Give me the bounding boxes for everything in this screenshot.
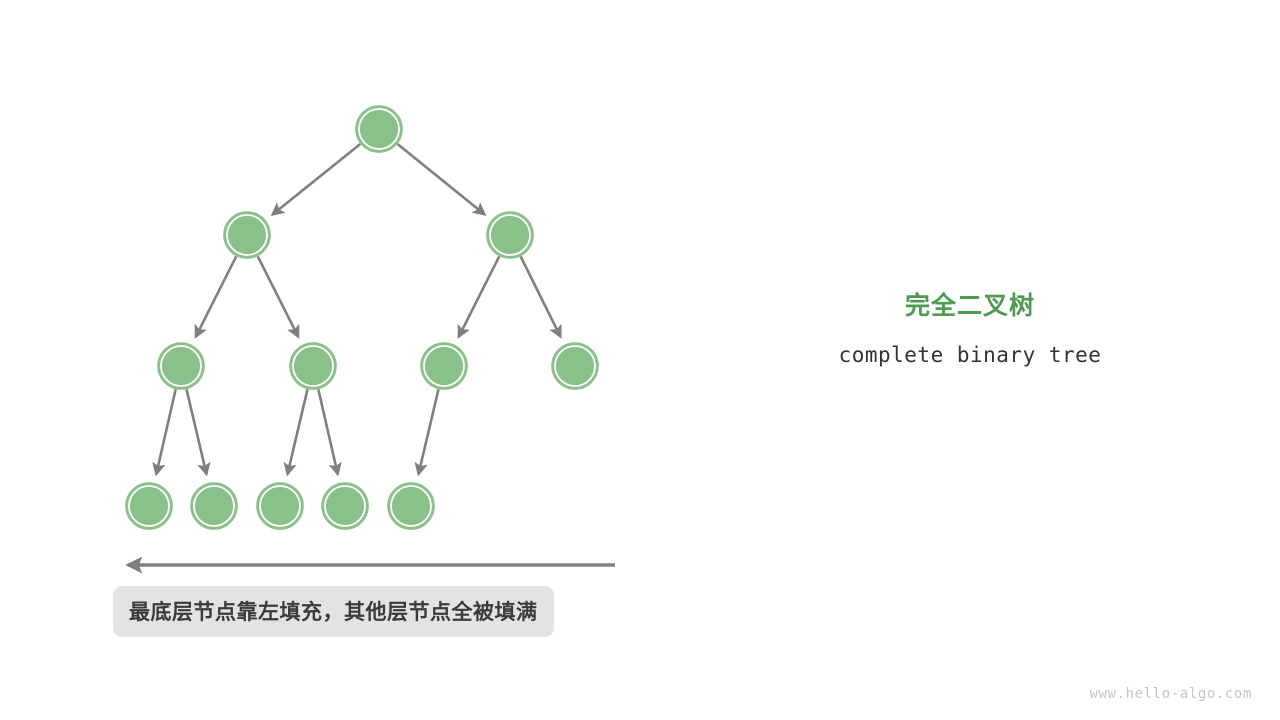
node-fill-circle <box>130 487 167 524</box>
node-fill-circle <box>425 347 462 384</box>
tree-node <box>158 343 204 389</box>
caption-box: 最底层节点靠左填充，其他层节点全被填满 <box>113 586 554 637</box>
tree-node <box>552 343 598 389</box>
tree-edge <box>318 389 337 473</box>
node-fill-circle <box>228 216 265 253</box>
tree-edge <box>187 389 207 474</box>
node-fill-circle <box>294 347 331 384</box>
tree-edge <box>398 144 485 214</box>
node-fill-circle <box>261 487 298 524</box>
tree-node <box>290 343 336 389</box>
tree-node <box>421 343 467 389</box>
tree-node <box>257 483 303 529</box>
node-fill-circle <box>326 487 363 524</box>
node-fill-circle <box>360 110 397 147</box>
node-fill-circle <box>195 487 232 524</box>
node-fill-circle <box>491 216 528 253</box>
tree-node <box>191 483 237 529</box>
legend-title: 完全二叉树 <box>780 290 1160 322</box>
tree-node <box>126 483 172 529</box>
watermark: www.hello-algo.com <box>1089 686 1252 702</box>
node-fill-circle <box>392 487 429 524</box>
tree-edge <box>273 144 361 214</box>
tree-node <box>388 483 434 529</box>
legend-subtitle: complete binary tree <box>780 342 1160 368</box>
tree-node <box>487 212 533 258</box>
tree-edge <box>521 256 561 336</box>
tree-edge <box>419 389 439 474</box>
tree-nodes <box>126 106 598 529</box>
tree-edge <box>288 389 308 474</box>
tree-edges <box>156 144 560 474</box>
tree-node <box>356 106 402 152</box>
tree-edge <box>156 389 175 473</box>
tree-node <box>322 483 368 529</box>
legend: 完全二叉树 complete binary tree <box>780 290 1160 368</box>
tree-edge <box>459 256 499 336</box>
tree-edge <box>196 256 236 336</box>
node-fill-circle <box>556 347 593 384</box>
tree-edge <box>258 256 298 336</box>
node-fill-circle <box>162 347 199 384</box>
tree-node <box>224 212 270 258</box>
